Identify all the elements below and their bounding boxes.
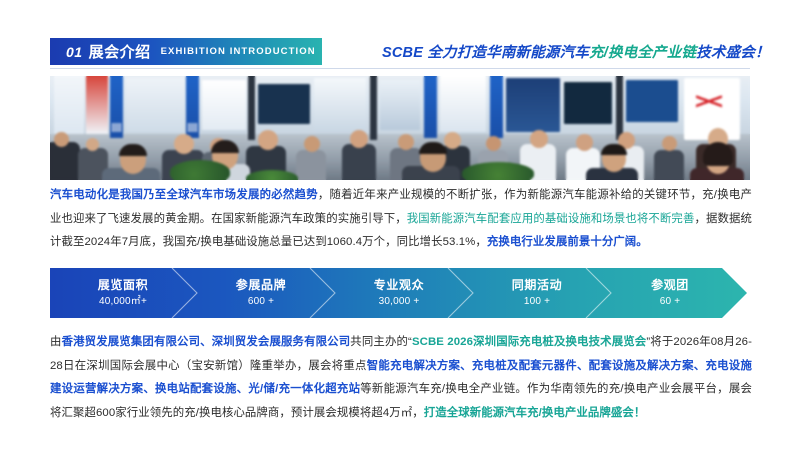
visitor-head xyxy=(444,132,461,149)
header-divider xyxy=(50,68,750,69)
intro-segment-teal: 我国新能源汽车配套应用的基础设施和场景也将不断完善 xyxy=(407,213,695,225)
visitor xyxy=(296,150,326,180)
visitor-head xyxy=(576,134,593,151)
stat-value: 30,000 + xyxy=(379,294,420,309)
stats-bar: 展览面积 40,000㎡+ 参展品牌 600 + 专业观众 30,000 + 同… xyxy=(50,268,750,318)
booth-panel xyxy=(86,76,108,134)
display-screen xyxy=(626,80,678,122)
slogan-part-1: 全力打造华南新能源汽车 xyxy=(427,45,589,61)
stat-label: 同期活动 xyxy=(512,277,562,293)
booth-panel xyxy=(440,76,486,132)
visitor xyxy=(342,144,376,180)
hair xyxy=(601,144,627,155)
detail-closing-slogan: 打造全球新能源汽车充/换电产业品牌盛会！ xyxy=(424,407,646,419)
structural-column xyxy=(616,76,623,140)
visitor-head xyxy=(174,134,194,154)
section-number: 01 xyxy=(66,44,83,60)
stat-value: 100 + xyxy=(524,294,550,309)
visitor-head xyxy=(350,130,368,148)
booth-panel xyxy=(380,80,420,130)
booth-panel xyxy=(126,78,184,132)
visitor-head xyxy=(486,136,501,151)
display-screen xyxy=(258,84,310,124)
visitor xyxy=(654,150,684,180)
visitor-head xyxy=(530,130,548,148)
booth-pillar xyxy=(110,76,123,138)
structural-column xyxy=(370,76,377,140)
section-title-en: EXHIBITION INTRODUCTION xyxy=(161,46,316,57)
visitor-head xyxy=(662,136,677,151)
section-tab-exhibition-introduction[interactable]: 01 展会介绍 EXHIBITION INTRODUCTION xyxy=(50,38,322,65)
detail-paragraph: 由香港贸发展览集团有限公司、深圳贸发会展服务有限公司共同主办的“SCBE 202… xyxy=(50,331,752,425)
decorative-plant xyxy=(170,160,230,180)
booth-pillar xyxy=(186,76,199,138)
detail-event-name: SCBE 2026深圳国际充电桩及换电技术展览会 xyxy=(412,336,646,348)
sponsor-logo-w xyxy=(696,92,722,110)
booth-panel xyxy=(54,76,84,134)
stat-item-visitors: 专业观众 30,000 + xyxy=(334,268,464,318)
visitor-head xyxy=(304,136,320,152)
decorative-plant xyxy=(462,162,534,180)
exhibition-photo-banner xyxy=(50,76,750,180)
booth-pillar xyxy=(490,76,503,138)
slogan-highlight: 充/换电全产业链 xyxy=(589,45,696,61)
detail-organizers: 香港贸发展览集团有限公司、深圳贸发会展服务有限公司 xyxy=(62,336,351,348)
stat-item-brands: 参展品牌 600 + xyxy=(196,268,326,318)
visitor xyxy=(50,142,80,180)
detail-segment-1: 由 xyxy=(50,336,62,348)
stat-value: 40,000㎡+ xyxy=(99,294,147,309)
intro-paragraph: 汽车电动化是我国乃至全球汽车市场发展的必然趋势，随着近年来产业规模的不断扩张，作… xyxy=(50,184,752,255)
booth-pillar xyxy=(424,76,437,138)
stat-item-delegations: 参观团 60 + xyxy=(608,268,732,318)
stat-item-exhibition-area: 展览面积 40,000㎡+ xyxy=(58,268,188,318)
stat-label: 展览面积 xyxy=(98,277,148,293)
hair xyxy=(703,142,733,166)
structural-column xyxy=(248,76,255,140)
booth-panel xyxy=(202,80,246,130)
section-title-cn: 展会介绍 xyxy=(89,41,151,62)
intro-segment-bold-2: 充换电行业发展前景十分广阔。 xyxy=(487,236,648,248)
intro-segment-bold: 汽车电动化是我国乃至全球汽车市场发展的必然趋势 xyxy=(50,189,318,201)
slogan-part-2: 技术盛会！ xyxy=(696,45,770,61)
stat-label: 参展品牌 xyxy=(236,277,286,293)
booth-panel xyxy=(506,78,560,132)
visitor-head xyxy=(54,132,69,147)
stat-label: 专业观众 xyxy=(374,277,424,293)
display-screen xyxy=(564,82,612,124)
decorative-plant xyxy=(246,170,298,180)
page-header: 01 展会介绍 EXHIBITION INTRODUCTION SCBE 全力打… xyxy=(0,0,800,75)
booth-panel xyxy=(314,78,366,132)
visitor-head xyxy=(398,134,414,150)
stat-value: 60 + xyxy=(660,294,681,309)
visitor-head xyxy=(258,130,278,150)
stat-item-events: 同期活动 100 + xyxy=(472,268,602,318)
qr-code xyxy=(112,123,121,132)
visitor-head xyxy=(86,138,99,151)
header-slogan: SCBE 全力打造华南新能源汽车充/换电全产业链技术盛会！ xyxy=(382,41,770,62)
stat-value: 600 + xyxy=(248,294,274,309)
stat-label: 参观团 xyxy=(651,277,689,293)
slogan-brand: SCBE xyxy=(382,45,427,61)
qr-code xyxy=(188,123,197,132)
detail-segment-3: 共同主办的“ xyxy=(350,336,412,348)
